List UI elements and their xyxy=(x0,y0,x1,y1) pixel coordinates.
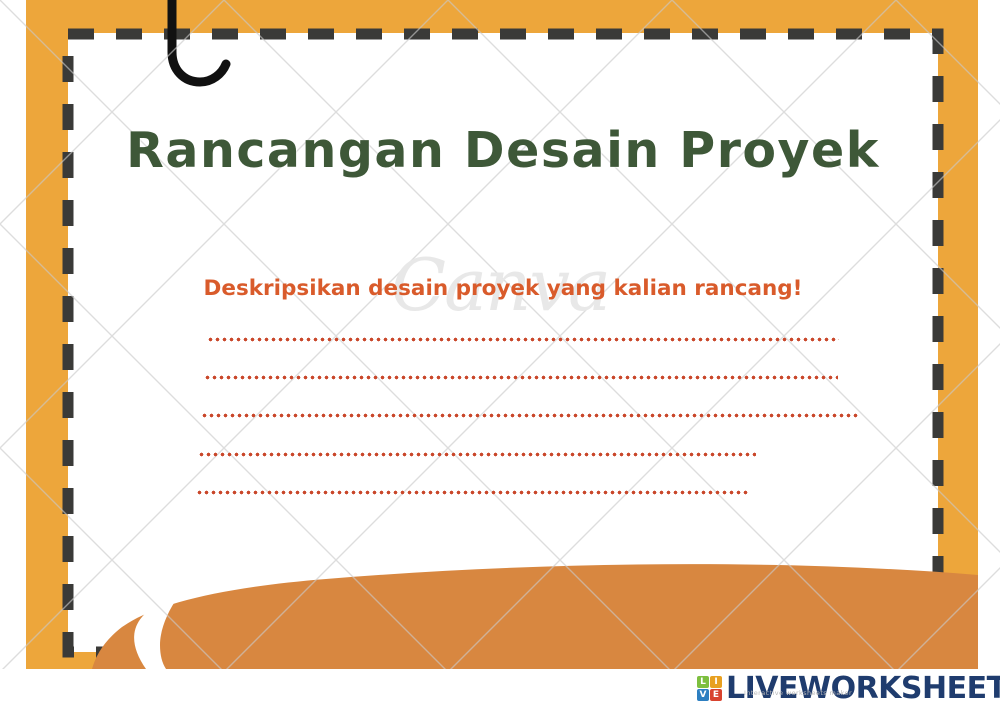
logo-tile-e: E xyxy=(710,689,722,701)
logo-tile-v: V xyxy=(697,689,709,701)
logo-tile-l: L xyxy=(697,676,709,688)
logo-tile-i: I xyxy=(710,676,722,688)
worksheet-page: Canva Rancangan Desain Proyek Deskripsik… xyxy=(0,0,1000,707)
liveworksheets-wordmark: LIVEWORKSHEETS xyxy=(726,671,1000,706)
liveworksheets-logo: LIVE LIVEWORKSHEETS xyxy=(697,669,1000,707)
liveworksheets-tiles: LIVE xyxy=(697,676,722,701)
answer-line-1[interactable] xyxy=(207,337,839,342)
page-title: Rancangan Desain Proyek xyxy=(68,122,938,179)
answer-line-2[interactable] xyxy=(204,375,838,380)
liveworksheets-tagline: Interactive worksheets maker xyxy=(744,689,852,697)
answer-line-3[interactable] xyxy=(201,413,858,418)
answer-line-4[interactable] xyxy=(198,452,756,457)
answer-line-5[interactable] xyxy=(196,490,750,495)
prompt-text: Deskripsikan desain proyek yang kalian r… xyxy=(68,276,938,301)
